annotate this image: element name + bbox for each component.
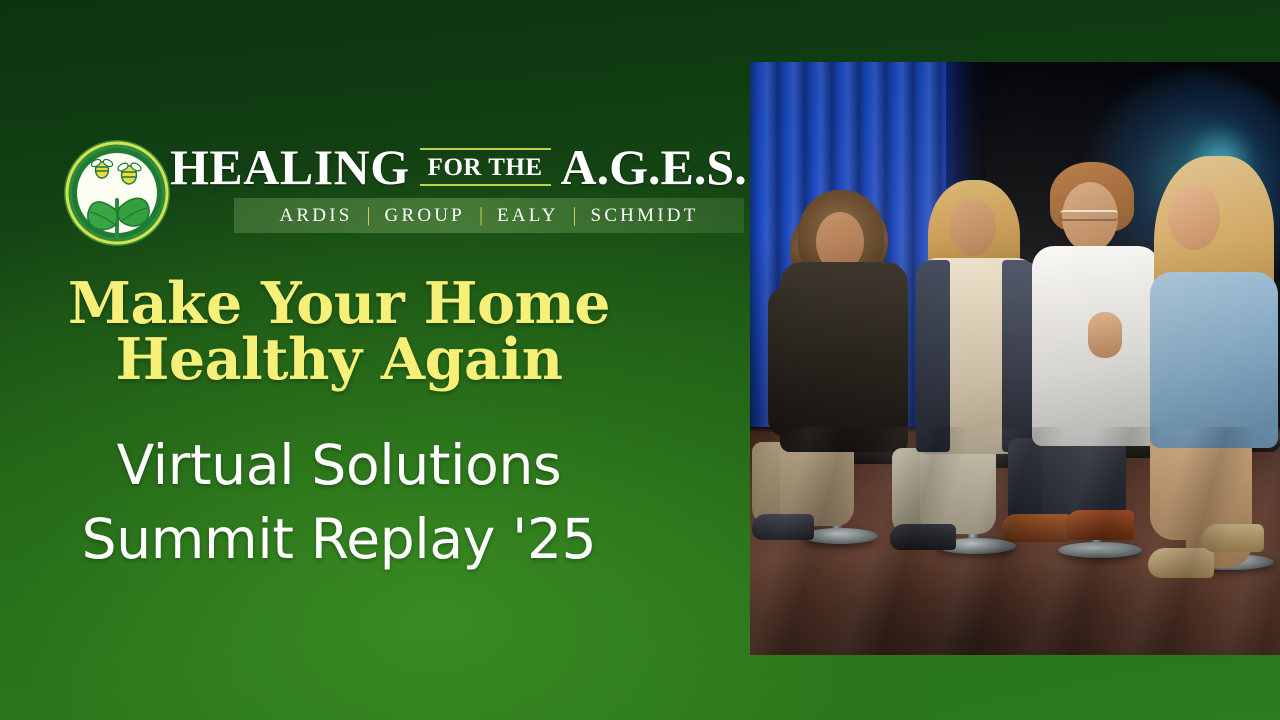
bees-and-leaves-emblem-icon bbox=[62, 138, 172, 248]
panelist-glasses-icon bbox=[1060, 210, 1118, 221]
headline-line-2: Healthy Again bbox=[0, 332, 678, 388]
brand-logo-lockup: HEALING FOR THE A.G.E.S. ARDIS | GROUP |… bbox=[62, 136, 687, 248]
panel-photo bbox=[750, 62, 1280, 655]
panelist-head bbox=[1168, 184, 1220, 250]
founder-name-schmidt: SCHMIDT bbox=[577, 205, 713, 227]
panelist-vest bbox=[916, 260, 950, 452]
headline: Make Your Home Healthy Again bbox=[0, 276, 740, 388]
wordmark-forthe: FOR THE bbox=[420, 155, 551, 180]
subtitle: Virtual Solutions Summit Replay '25 bbox=[0, 428, 740, 577]
subtitle-line-2: Summit Replay '25 bbox=[0, 502, 678, 576]
name-separator-1: | bbox=[367, 205, 371, 225]
name-separator-3: | bbox=[573, 205, 577, 225]
brand-wordmark: HEALING FOR THE A.G.E.S. ARDIS | GROUP |… bbox=[170, 136, 690, 248]
photo-floor-shading bbox=[750, 427, 1280, 655]
name-separator-2: | bbox=[479, 205, 483, 225]
wordmark-healing: HEALING bbox=[170, 142, 410, 192]
founder-names-band: ARDIS | GROUP | EALY | SCHMIDT bbox=[234, 198, 744, 233]
left-content-column: HEALING FOR THE A.G.E.S. ARDIS | GROUP |… bbox=[0, 0, 740, 720]
panelist-arm bbox=[768, 287, 808, 437]
founder-name-ealy: EALY bbox=[483, 205, 573, 227]
panelist-head bbox=[950, 198, 996, 256]
promo-slide: HEALING FOR THE A.G.E.S. ARDIS | GROUP |… bbox=[0, 0, 1280, 720]
panelist-torso bbox=[1150, 272, 1278, 448]
founder-name-group: GROUP bbox=[371, 205, 479, 227]
headline-line-1: Make Your Home bbox=[0, 276, 678, 332]
wordmark-forthe-rule: FOR THE bbox=[420, 148, 551, 186]
wordmark-ages: A.G.E.S. bbox=[561, 142, 747, 192]
panelist-hand bbox=[1088, 312, 1122, 358]
founder-name-ardis: ARDIS bbox=[266, 205, 367, 227]
subtitle-line-1: Virtual Solutions bbox=[0, 428, 678, 502]
wordmark-row: HEALING FOR THE A.G.E.S. bbox=[170, 136, 690, 198]
